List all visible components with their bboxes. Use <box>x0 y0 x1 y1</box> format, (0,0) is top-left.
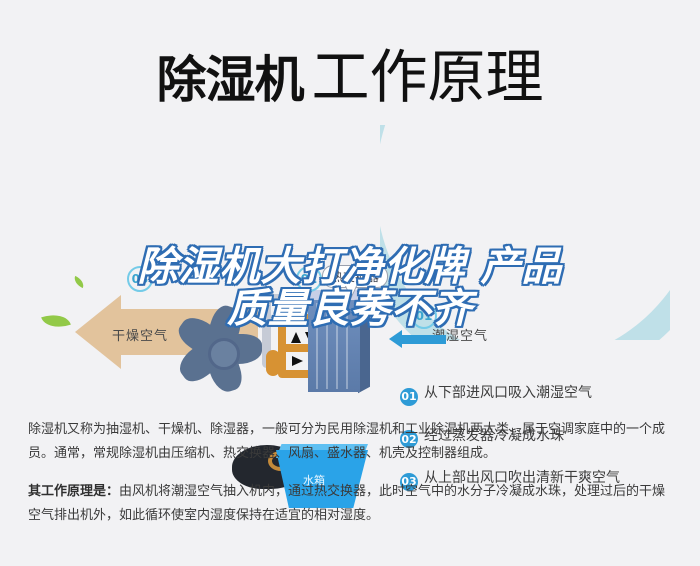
page-title-secondary: 工作原理 <box>311 43 543 111</box>
air-intake-arrow-icon <box>402 335 446 344</box>
dry-air-label: 干燥空气 <box>112 325 168 344</box>
paragraph-2-text: 由风机将潮湿空气抽入机内，通过热交换器，此时空气中的水分子冷凝成水珠，处理过后的… <box>28 484 665 523</box>
leaf-icon <box>72 276 86 288</box>
heat-exchanger-callout: 热交换器 <box>322 265 388 288</box>
article-body: 除湿机又称为抽湿机、干燥机、除湿器，一般可分为民用除湿机和工业除湿机两大类，属于… <box>28 418 676 542</box>
leaf-icon <box>41 309 71 332</box>
callout-pointer-icon <box>345 286 357 299</box>
heat-exchanger-icon <box>300 290 372 395</box>
badge-01: 01 <box>411 303 437 329</box>
step-badge: 01 <box>400 388 418 406</box>
list-item: 01从下部进风口吸入潮湿空气 <box>400 382 700 406</box>
badge-02: 02 <box>296 266 322 292</box>
badge-03: 03 <box>127 266 153 292</box>
paragraph-1: 除湿机又称为抽湿机、干燥机、除湿器，一般可分为民用除湿机和工业除湿机两大类，属于… <box>28 418 676 466</box>
paragraph-2-lead: 其工作原理是： <box>28 484 119 499</box>
page-root: 除湿机工作原理 干燥空气 潮湿空气 <box>0 0 700 566</box>
page-title: 除湿机工作原理 <box>0 30 700 114</box>
page-title-primary: 除湿机 <box>156 51 303 109</box>
paragraph-2: 其工作原理是：由风机将潮湿空气抽入机内，通过热交换器，此时空气中的水分子冷凝成水… <box>28 480 676 528</box>
step-text: 从下部进风口吸入潮湿空气 <box>424 385 592 401</box>
dehumidifier-diagram: 干燥空气 潮湿空气 <box>0 120 700 400</box>
